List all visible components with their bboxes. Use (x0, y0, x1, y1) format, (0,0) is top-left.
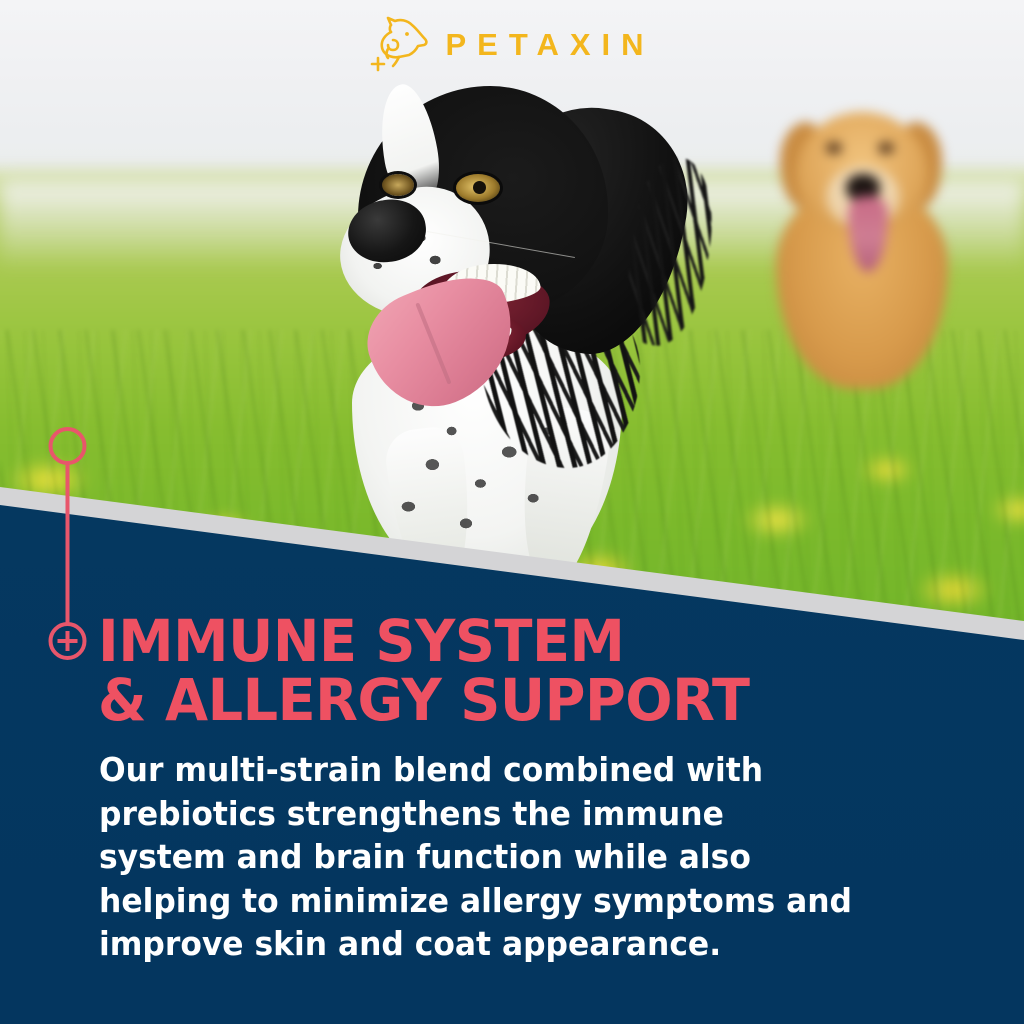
background-dog-golden (748, 96, 978, 396)
product-feature-card: PETAXIN IMMUNE SYSTEM & ALLERGY SUPPORT … (0, 0, 1024, 1024)
dog-head-plus-icon (369, 16, 431, 74)
foreground-dog-spaniel (330, 78, 700, 578)
brand-name: PETAXIN (445, 27, 654, 63)
brand-logo[interactable]: PETAXIN (0, 14, 1024, 76)
body-description: Our multi-strain blend combined with pre… (99, 748, 859, 966)
page-title: IMMUNE SYSTEM & ALLERGY SUPPORT (98, 612, 924, 730)
